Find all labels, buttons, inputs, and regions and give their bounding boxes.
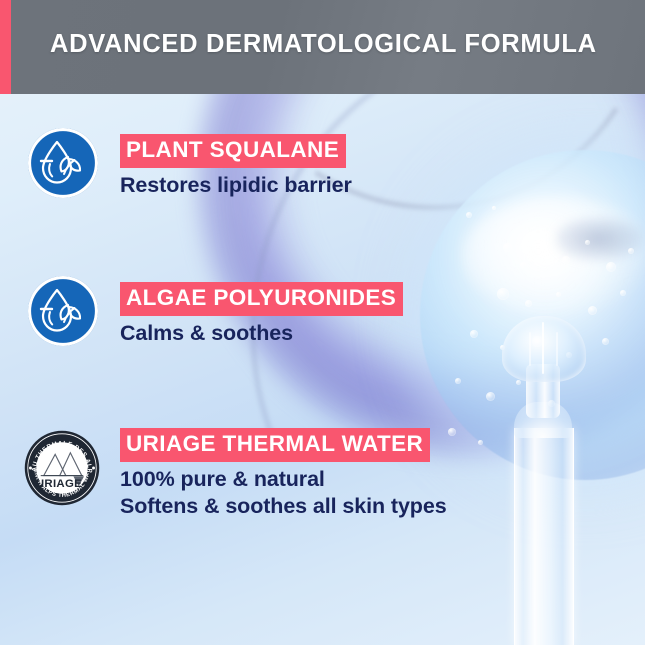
product-benefits-graphic: ADVANCED DERMATOLOGICAL FORMULA PLANT SQ… <box>0 0 645 645</box>
svg-text:URIAGE: URIAGE <box>36 478 82 490</box>
header-accent-bar <box>0 0 11 94</box>
feature-heading: PLANT SQUALANE <box>120 134 346 168</box>
feature-heading: ALGAE POLYURONIDES <box>120 282 403 316</box>
feature-text-block: URIAGE THERMAL WATER 100% pure & natural… <box>120 428 447 519</box>
feature-text-block: PLANT SQUALANE Restores lipidic barrier <box>120 134 352 198</box>
feature-line: Restores lipidic barrier <box>120 172 352 198</box>
feature-line: Softens & soothes all skin types <box>120 493 447 519</box>
page-title: ADVANCED DERMATOLOGICAL FORMULA <box>50 30 597 59</box>
feature-text-block: ALGAE POLYURONIDES Calms & soothes <box>120 282 403 346</box>
feature-heading: URIAGE THERMAL WATER <box>120 428 430 462</box>
glass-ampoule <box>496 316 590 645</box>
feature-line: 100% pure & natural <box>120 466 447 492</box>
water-drop-leaf-icon <box>28 128 98 198</box>
water-drop-leaf-icon <box>28 276 98 346</box>
uriage-seal-icon: L'EAU THERMALE DES ALPES FRENCH ALPS THE… <box>24 430 100 506</box>
feature-line: Calms & soothes <box>120 320 403 346</box>
